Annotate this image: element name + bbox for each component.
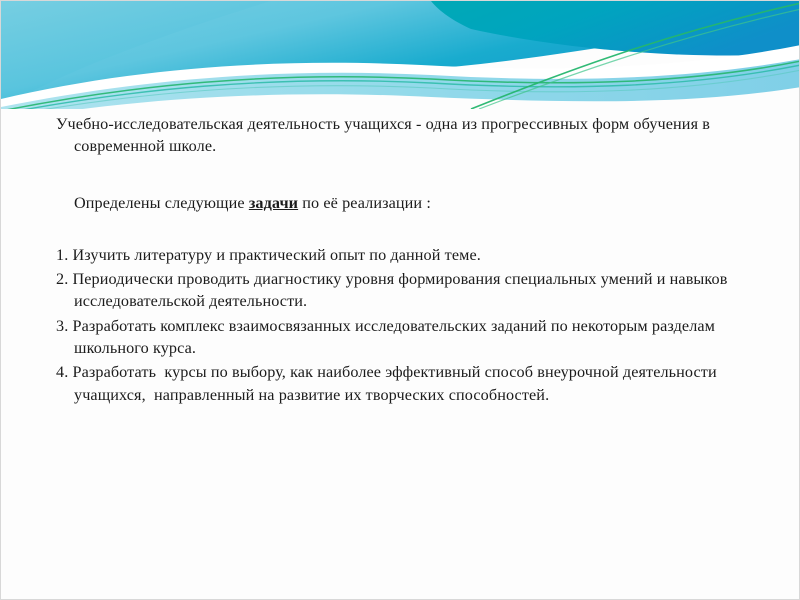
task-item-4: 4. Разработать курсы по выбору, как наиб… <box>56 361 762 406</box>
task-item-3: 3. Разработать комплекс взаимосвязанных … <box>56 315 762 360</box>
paragraph-spacer <box>56 158 762 192</box>
decorative-wave-banner <box>1 1 800 109</box>
presentation-slide: Учебно-исследовательская деятельность уч… <box>0 0 800 600</box>
lead-in-keyword: задачи <box>249 194 298 212</box>
lead-in-line: Определены следующие задачи по её реализ… <box>56 192 762 214</box>
task-item-1: 1. Изучить литературу и практический опы… <box>56 244 762 266</box>
intro-paragraph: Учебно-исследовательская деятельность уч… <box>56 113 762 158</box>
task-item-2: 2. Периодически проводить диагностику ур… <box>56 268 762 313</box>
lead-in-before: Определены следующие <box>74 194 249 212</box>
lead-in-after: по её реализации : <box>298 194 431 212</box>
task-list: 1. Изучить литературу и практический опы… <box>56 244 762 406</box>
list-spacer <box>56 214 762 244</box>
slide-body: Учебно-исследовательская деятельность уч… <box>56 113 762 408</box>
